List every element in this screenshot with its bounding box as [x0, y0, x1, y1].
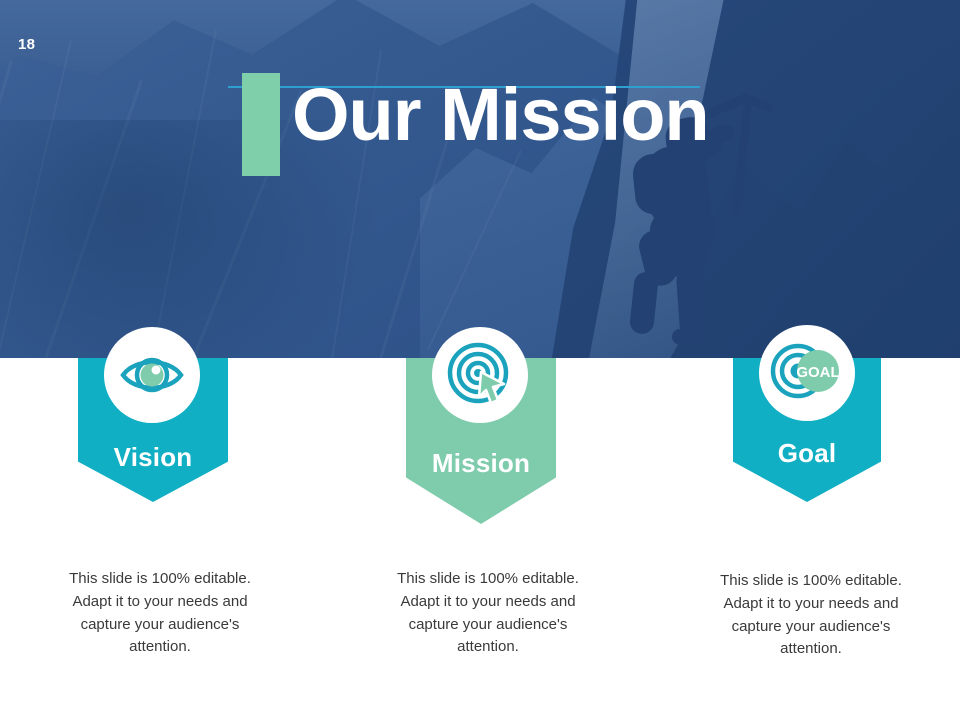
page-title: Our Mission	[292, 78, 709, 152]
hero-background-photo	[0, 0, 960, 358]
description-vision: This slide is 100% editable. Adapt it to…	[58, 568, 262, 659]
climber-boot	[671, 326, 706, 345]
slide-canvas: 18 Our Mission Vision Mission Goal	[0, 0, 960, 720]
description-goal: This slide is 100% editable. Adapt it to…	[706, 570, 916, 661]
goal-badge-text: GOAL	[796, 364, 839, 381]
climber-forearm	[706, 123, 735, 145]
banner-mission-label: Mission	[406, 448, 556, 479]
target-cursor-icon[interactable]	[432, 327, 528, 423]
page-number: 18	[18, 36, 35, 53]
description-mission: This slide is 100% editable. Adapt it to…	[386, 568, 590, 659]
goal-target-icon[interactable]: GOAL	[759, 325, 855, 421]
eye-icon[interactable]	[104, 327, 200, 423]
banner-goal-label: Goal	[733, 438, 881, 469]
ice-axe-shaft	[732, 104, 751, 214]
climber-back-shin	[629, 271, 659, 335]
title-accent-bar	[242, 73, 280, 176]
banner-vision-label: Vision	[78, 442, 228, 473]
